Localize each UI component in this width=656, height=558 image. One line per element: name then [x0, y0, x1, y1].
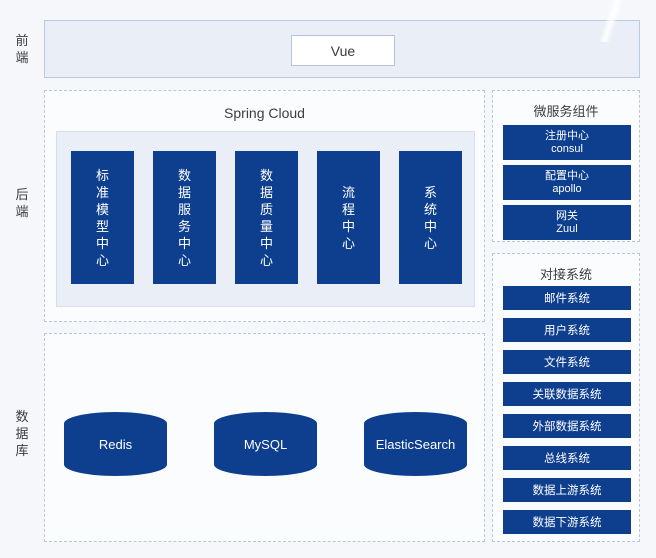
- tier-label-database: 数 据 库: [6, 408, 38, 459]
- service-pillar[interactable]: 流程中心: [317, 151, 380, 284]
- tier-label-database-char-2: 库: [6, 442, 38, 459]
- spring-cloud-title: Spring Cloud: [45, 105, 484, 121]
- service-pillar[interactable]: 标准模型中心: [71, 151, 134, 284]
- docking-system-item[interactable]: 外部数据系统: [503, 414, 631, 438]
- architecture-diagram: 前 端 后 端 数 据 库 Vue Spring Cloud 标准模型中心 数据…: [0, 0, 656, 558]
- datastore-row: Redis MySQL ElasticSearch: [64, 412, 467, 476]
- microservice-item-sub: Zuul: [556, 223, 577, 236]
- docking-system-item[interactable]: 数据下游系统: [503, 510, 631, 534]
- datastore-label: Redis: [99, 437, 132, 452]
- datastore-cylinder[interactable]: Redis: [64, 412, 167, 476]
- service-pillar-label: 标准模型中心: [94, 167, 112, 269]
- docking-system-item[interactable]: 总线系统: [503, 446, 631, 470]
- service-pillar-label: 数据质量中心: [258, 167, 276, 269]
- service-pillar-label: 数据服务中心: [176, 167, 194, 269]
- datastore-cylinder[interactable]: ElasticSearch: [364, 412, 467, 476]
- spring-cloud-panel: 标准模型中心 数据服务中心 数据质量中心 流程中心 系统中心: [56, 131, 475, 307]
- tier-label-frontend: 前 端: [6, 32, 38, 66]
- datastore-cylinder[interactable]: MySQL: [214, 412, 317, 476]
- docking-system-item[interactable]: 用户系统: [503, 318, 631, 342]
- microservice-item-label: 网关: [556, 210, 578, 223]
- microservice-item[interactable]: 配置中心 apollo: [503, 165, 631, 200]
- microservice-item-label: 配置中心: [545, 170, 589, 183]
- tier-label-database-char-0: 数: [6, 408, 38, 425]
- docking-systems-container: 对接系统 邮件系统 用户系统 文件系统 关联数据系统 外部数据系统 总线系统 数…: [492, 253, 640, 542]
- microservice-item[interactable]: 注册中心 consul: [503, 125, 631, 160]
- microservice-container: 微服务组件 注册中心 consul 配置中心 apollo 网关 Zuul: [492, 90, 640, 242]
- service-pillar[interactable]: 数据服务中心: [153, 151, 216, 284]
- tier-label-backend: 后 端: [6, 186, 38, 220]
- tier-label-backend-char-1: 端: [6, 203, 38, 220]
- docking-system-item[interactable]: 邮件系统: [503, 286, 631, 310]
- microservice-item[interactable]: 网关 Zuul: [503, 205, 631, 240]
- tier-label-database-char-1: 据: [6, 425, 38, 442]
- docking-systems-title: 对接系统: [493, 264, 639, 283]
- frontend-band: Vue: [44, 20, 640, 78]
- tier-label-frontend-char-0: 前: [6, 32, 38, 49]
- tier-label-frontend-char-1: 端: [6, 49, 38, 66]
- docking-systems-list: 邮件系统 用户系统 文件系统 关联数据系统 外部数据系统 总线系统 数据上游系统…: [503, 286, 631, 542]
- docking-system-item[interactable]: 文件系统: [503, 350, 631, 374]
- backend-container: Spring Cloud 标准模型中心 数据服务中心 数据质量中心 流程中心 系…: [44, 90, 485, 322]
- service-pillar-label: 流程中心: [340, 184, 358, 252]
- microservice-item-label: 注册中心: [545, 130, 589, 143]
- datastore-label: MySQL: [244, 437, 287, 452]
- service-pillar[interactable]: 系统中心: [399, 151, 462, 284]
- vue-node[interactable]: Vue: [291, 35, 395, 66]
- tier-label-backend-char-0: 后: [6, 186, 38, 203]
- microservice-item-sub: apollo: [552, 183, 581, 196]
- microservice-title: 微服务组件: [493, 101, 639, 120]
- service-pillar-row: 标准模型中心 数据服务中心 数据质量中心 流程中心 系统中心: [71, 151, 462, 284]
- datastore-label: ElasticSearch: [376, 437, 455, 452]
- microservice-item-sub: consul: [551, 143, 583, 156]
- database-container: Redis MySQL ElasticSearch: [44, 333, 485, 542]
- docking-system-item[interactable]: 关联数据系统: [503, 382, 631, 406]
- service-pillar[interactable]: 数据质量中心: [235, 151, 298, 284]
- service-pillar-label: 系统中心: [422, 184, 440, 252]
- microservice-list: 注册中心 consul 配置中心 apollo 网关 Zuul: [503, 125, 631, 245]
- docking-system-item[interactable]: 数据上游系统: [503, 478, 631, 502]
